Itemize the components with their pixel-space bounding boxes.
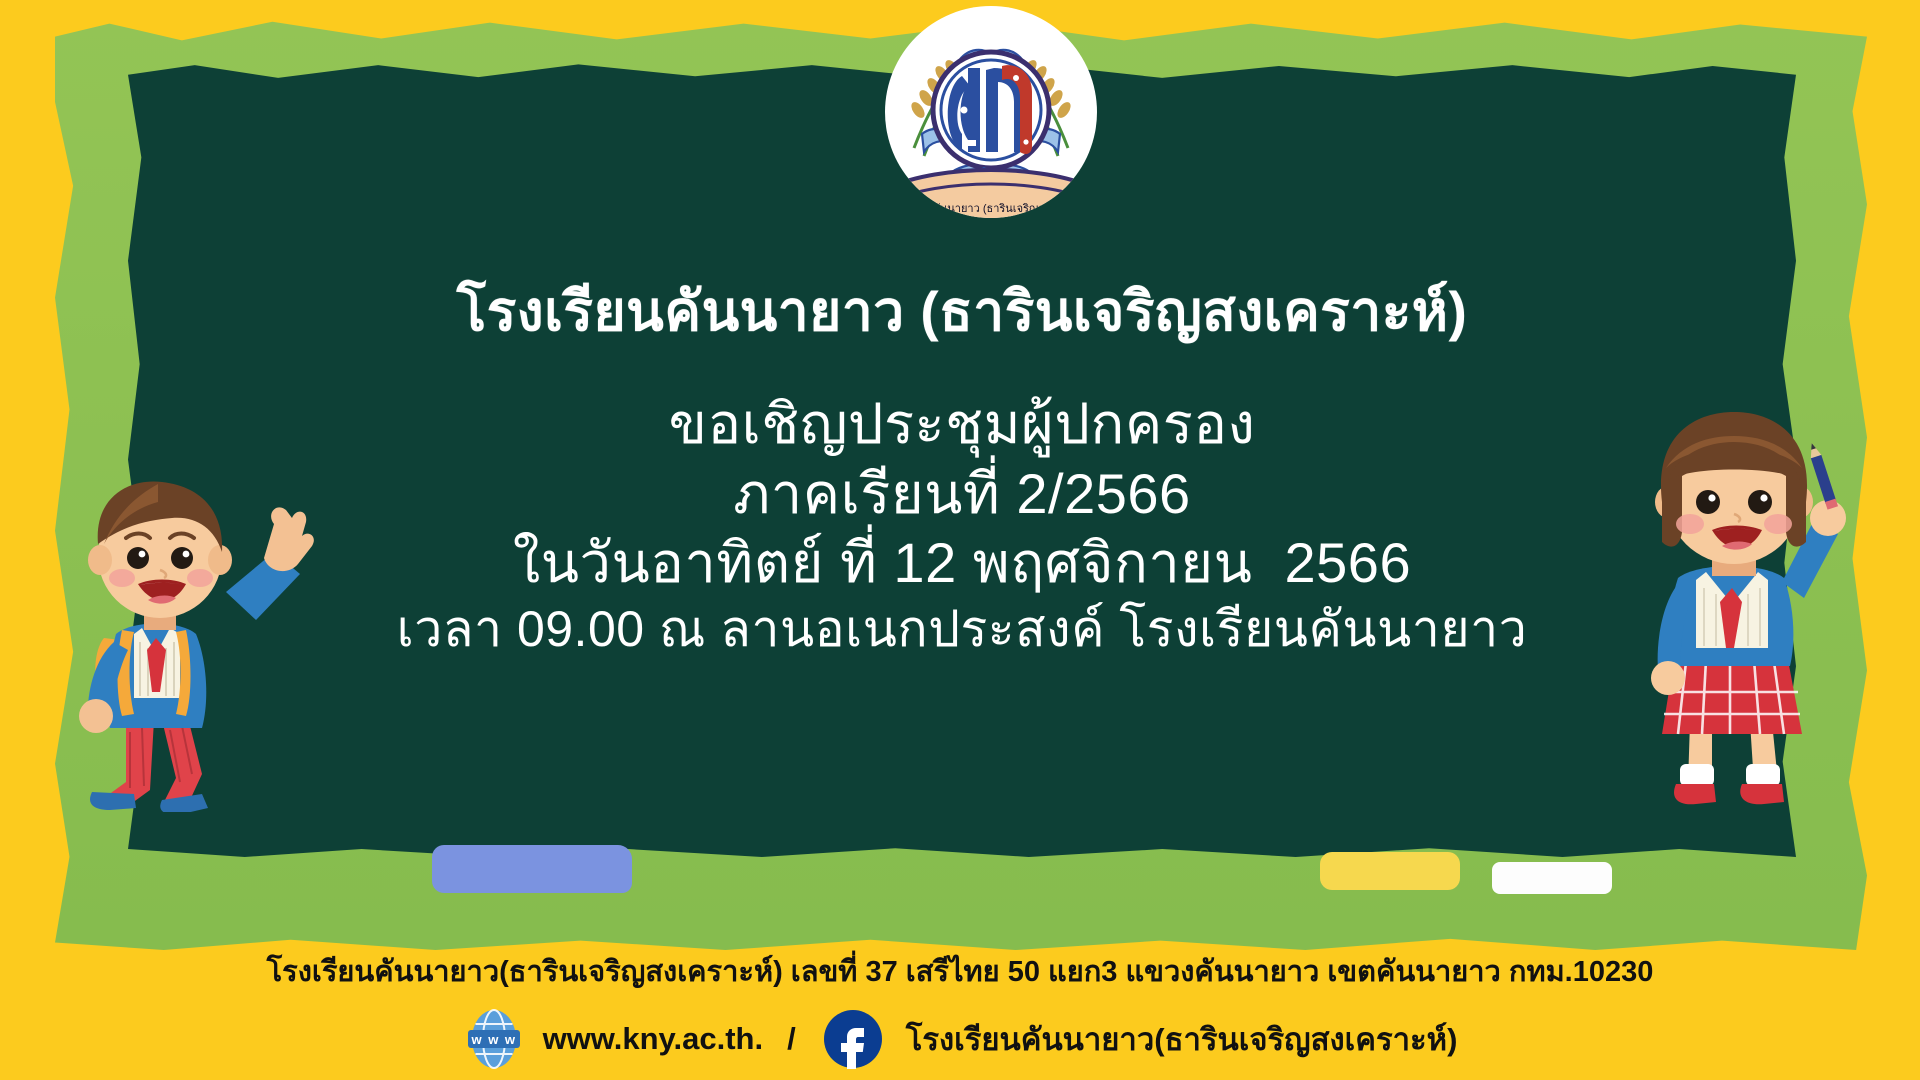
invite-line-2: ภาคเรียนที่ 2/2566 [128,459,1796,528]
invite-message: ขอเชิญประชุมผู้ปกครอง ภาคเรียนที่ 2/2566… [128,389,1796,659]
schoolgirl-mascot [1582,392,1902,822]
schoolboy-mascot [30,452,340,812]
facebook-icon[interactable] [822,1008,884,1070]
invite-line-4: เวลา 09.00 ณ ลานอเนกประสงค์ โรงเรียนคันน… [128,598,1796,660]
white-chalk [1492,862,1612,894]
footer-address: โรงเรียนคันนายาว(ธารินเจริญสงเคราะห์) เล… [0,948,1920,994]
footer-links-bar: w w w www.kny.ac.th. / โรงเรียนคันนายาว(… [0,1008,1920,1070]
website-globe-icon[interactable]: w w w [463,1008,525,1070]
yellow-eraser [1320,852,1460,890]
footer-separator: / [787,1021,796,1057]
school-title: โรงเรียนคันนายาว (ธารินเจริญสงเคราะห์) [128,280,1796,343]
blue-eraser [432,845,632,893]
invite-line-3: ในวันอาทิตย์ ที่ 12 พฤศจิกายน 2566 [128,528,1796,597]
facebook-page-name[interactable]: โรงเรียนคันนายาว(ธารินเจริญสงเคราะห์) [906,1014,1458,1064]
globe-www-label: w w w [470,1032,516,1047]
invite-line-1: ขอเชิญประชุมผู้ปกครอง [128,389,1796,458]
poster-canvas: โรงเรียนคันนายาว (ธารินเจริญสงเคราะห์) ก… [0,0,1920,1080]
chalkboard-text-block: โรงเรียนคันนายาว (ธารินเจริญสงเคราะห์) ข… [128,62,1796,660]
website-url[interactable]: www.kny.ac.th. [543,1021,764,1057]
